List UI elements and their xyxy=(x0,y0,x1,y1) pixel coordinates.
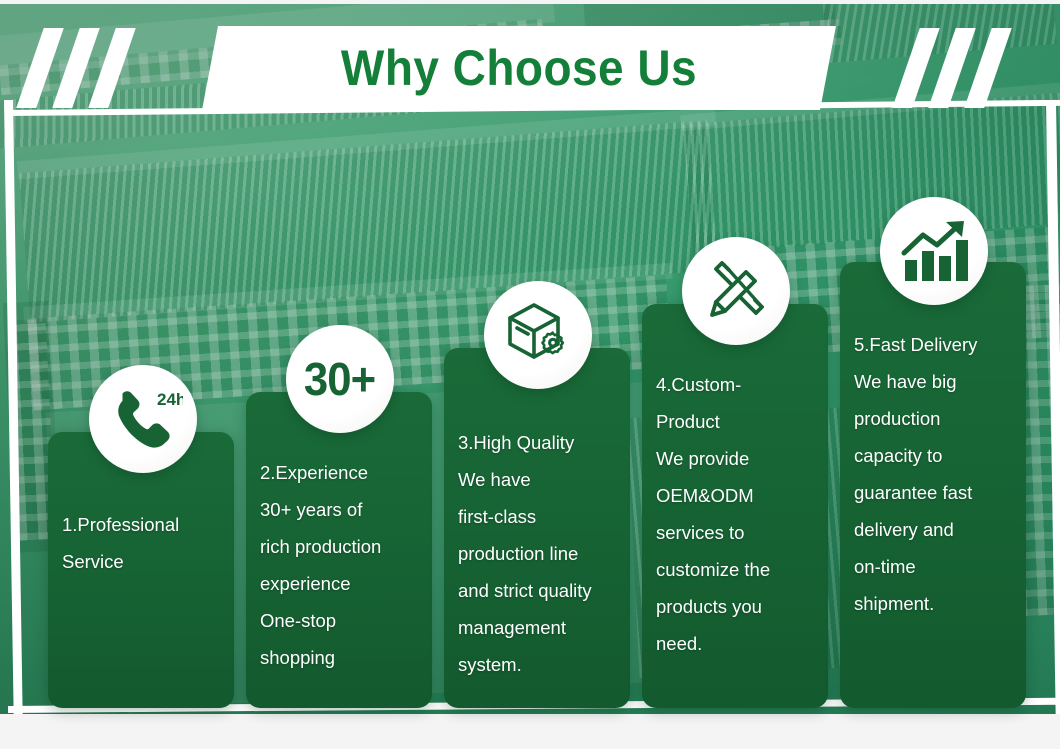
phone-24h-icon: 24h xyxy=(89,365,197,473)
thirty-plus-label: 30+ xyxy=(304,352,375,406)
feature-card-1-text: 1.Professional Service xyxy=(48,506,234,580)
feature-card-5-text: 5.Fast Delivery We have big production c… xyxy=(840,326,1026,622)
growth-chart-icon xyxy=(880,197,988,305)
box-gear-icon xyxy=(484,281,592,389)
feature-card-1[interactable]: 1.Professional Service xyxy=(48,432,234,708)
pencil-wrench-icon xyxy=(682,237,790,345)
feature-card-4-text: 4.Custom- Product We provide OEM&ODM ser… xyxy=(642,366,828,662)
feature-card-row: 1.Professional Service 24h 2.Experience … xyxy=(0,0,1060,749)
feature-card-3-text: 3.High Quality We have first-class produ… xyxy=(444,424,630,683)
feature-card-4[interactable]: 4.Custom- Product We provide OEM&ODM ser… xyxy=(642,304,828,708)
feature-card-3[interactable]: 3.High Quality We have first-class produ… xyxy=(444,348,630,708)
feature-card-2[interactable]: 2.Experience 30+ years of rich productio… xyxy=(246,392,432,708)
feature-card-2-text: 2.Experience 30+ years of rich productio… xyxy=(246,454,432,676)
svg-text:24h: 24h xyxy=(157,390,183,409)
poster-stage: Why Choose Us 1.Professional Service 24h… xyxy=(0,0,1060,749)
feature-card-5[interactable]: 5.Fast Delivery We have big production c… xyxy=(840,262,1026,708)
thirty-plus-badge-icon: 30+ xyxy=(286,325,394,433)
